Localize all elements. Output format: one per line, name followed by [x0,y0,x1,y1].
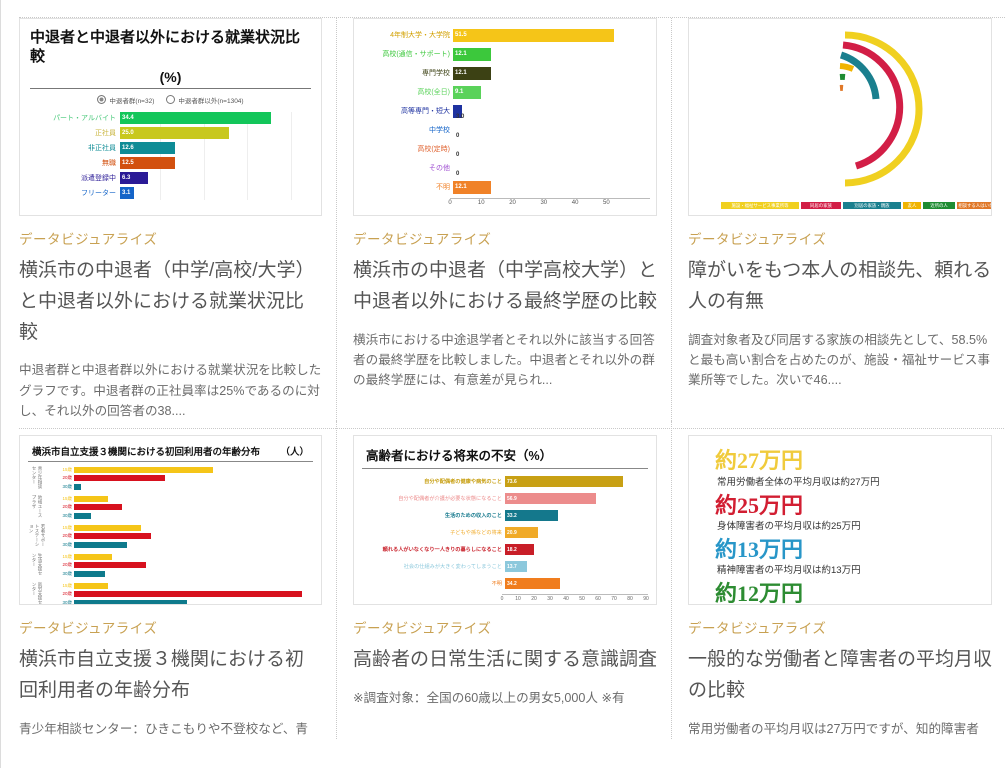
chart2-bar-label: 専門学校 [354,68,453,78]
chart4-bar-row: 30歳 [58,483,313,490]
chart2-bar-row: その他0 [354,160,650,176]
card-3-category[interactable]: データビジュアライズ [688,228,992,248]
chart1-bar-label: フリーター [28,188,120,198]
card-6[interactable]: 約27万円常用労働者全体の平均月収は約27万円約25万円身体障害者の平均月収は約… [671,421,1005,739]
chart4-title: 横浜市自立支援３機関における初回利用者の年齢分布 （人） [28,442,313,462]
chart3-legend: 施設・福祉サービス事業所等同居の家族別居の家族・親族友人近所の人相談する人はいな… [721,202,992,209]
card-1-thumbnail[interactable]: 中退者と中退者以外における就業状況比較 (%) 中退者群(n=32) 中退者群以… [19,18,322,216]
chart4-bar-row: 30歳 [58,512,313,519]
chart4-bar-row: 15歳 [58,524,313,531]
chart4-group-label: 就労支援センター [32,582,42,605]
card-6-title[interactable]: 一般的な労働者と障害者の平均月収の比較 [688,645,992,707]
chart2-bar: 0 [453,124,454,137]
kpi-value: 約27万円 [715,448,991,473]
chart4-bar [74,542,127,548]
chart4-series-label: 20歳 [58,562,74,568]
chart5-tick: 30 [547,596,553,602]
chart5-bar-value: 33.2 [507,513,517,519]
card-5-title[interactable]: 高齢者の日常生活に関する意識調査 [353,645,657,676]
radio-unselected-icon [166,95,175,104]
chart2-tick: 30 [540,200,547,206]
chart4-series-label: 30歳 [58,484,74,490]
chart2-bar-label: 不明 [354,182,453,192]
chart2-bar: 12.1 [453,48,491,61]
chart4-series-label: 30歳 [58,513,74,519]
chart5-bar-value: 18.2 [507,547,517,553]
chart4-group: 地域ユースプラザ15歳20歳30歳 [58,495,313,519]
results-grid-page: 中退者と中退者以外における就業状況比較 (%) 中退者群(n=32) 中退者群以… [0,0,1005,768]
chart2-bar-row: 高校(通信・サポート)12.1 [354,46,650,62]
chart1-rule [30,88,311,89]
kpi-description: 精神障害者の平均月収は約13万円 [717,562,991,576]
card-5-thumbnail[interactable]: 高齢者における将来の不安（%） 自分や配偶者の健康や病気のこと73.6自分や配偶… [353,435,657,605]
chart4-series-label: 20歳 [58,533,74,539]
card-2-description: 横浜市における中途退学者とそれ以外に該当する回答者の最終学歴を比較しました。中退… [353,330,657,391]
chart2-bar-value: 9.1 [455,89,463,95]
chart4-bar [74,583,108,589]
chart2-tick: 20 [509,200,516,206]
card-2-category[interactable]: データビジュアライズ [353,228,657,248]
chart1-bar-row: 派遣登録中6.3 [28,172,313,185]
chart4-bar-row: 20歳 [58,504,313,511]
chart4-series-label: 20歳 [58,591,74,597]
chart5-tick: 10 [515,596,521,602]
chart1-legend: 中退者群(n=32) 中退者群以外(n=1304) [28,95,313,105]
chart5-tick: 80 [627,596,633,602]
chart4-group-label: 地域ユースプラザ [32,495,42,519]
chart1-bar-value: 25.0 [122,130,134,136]
radio-selected-icon [97,95,106,104]
card-2-title[interactable]: 横浜市の中退者（中学高校大学）と中退者以外における最終学歴の比較 [353,256,657,318]
chart2-bar-label: 高校(全日) [354,87,453,97]
chart1-bar-value: 12.5 [122,160,134,166]
chart4-bar [74,475,165,481]
chart5-bar-row: 生活のための収入のこと33.2 [362,509,648,522]
chart2-x-axis: 01020304050 [450,198,650,209]
card-1-category[interactable]: データビジュアライズ [19,228,322,248]
chart2-bar-row: 高校(全日)9.1 [354,84,650,100]
card-5-description: ※調査対象：全国の60歳以上の男女5,000人 ※有 [353,688,657,708]
chart4-series-label: 20歳 [58,504,74,510]
card-5-category[interactable]: データビジュアライズ [353,617,657,637]
chart5-tick: 90 [643,596,649,602]
chart4-series-label: 15歳 [58,525,74,531]
card-4-title[interactable]: 横浜市自立支援３機関における初回利用者の年齢分布 [19,645,322,707]
chart2-bar: 3.0 [453,105,462,118]
chart5-title: 高齢者における将来の不安（%） [362,442,648,469]
chart5-bar-label: 頼れる人がいなくなり一人きりの暮らしになること [362,546,505,553]
chart4-series-label: 30歳 [58,571,74,577]
chart5-tick: 40 [563,596,569,602]
chart5-bar: 34.2 [505,578,560,589]
chart1-bar: 34.4 [120,112,271,124]
chart1-bar: 6.3 [120,172,148,184]
chart6-kpi-list: 約27万円常用労働者全体の平均月収は約27万円約25万円身体障害者の平均月収は約… [689,436,991,605]
card-4-description: 青少年相談センター：ひきこもりや不登校など、青 [19,719,322,739]
chart5-bar-row: 自分や配偶者の健康や病気のこと73.6 [362,475,648,488]
chart1-bar-value: 34.4 [122,115,134,121]
chart1-bar: 12.5 [120,157,175,169]
chart4-group-label: 若者サポートステーション [32,524,42,548]
chart2-bar-label: その他 [354,163,453,173]
kpi-value: 約12万円 [715,581,991,605]
chart4-series-label: 15歳 [58,496,74,502]
chart4-bar [74,496,108,502]
chart5-tick: 70 [611,596,617,602]
chart5-bar: 18.2 [505,544,534,555]
chart2-bar-value: 0 [456,152,459,158]
chart1-title: 中退者と中退者以外における就業状況比較 [28,25,313,67]
card-4-category[interactable]: データビジュアライズ [19,617,322,637]
chart2-bar-label: 高等専門・短大 [354,106,453,116]
chart1-unit: (%) [28,67,313,88]
chart1-bar-value: 3.1 [122,190,130,196]
chart5-tick: 20 [531,596,537,602]
card-1[interactable]: 中退者と中退者以外における就業状況比較 (%) 中退者群(n=32) 中退者群以… [1,18,336,421]
chart2-plot: 4年制大学・大学院51.5高校(通信・サポート)12.1専門学校12.1高校(全… [354,19,656,215]
chart4-bar-row: 20歳 [58,533,313,540]
chart2-bar-row: 高等専門・短大3.0 [354,103,650,119]
chart1-bar-row: 正社員25.0 [28,127,313,140]
chart4-bar-row: 15歳 [58,553,313,560]
chart1-plot: パート・アルバイト34.4正社員25.0非正社員12.6無職12.5派遣登録中6… [28,112,313,200]
chart1-legend-0: 中退者群(n=32) [109,98,154,105]
chart1-bar: 3.1 [120,187,134,199]
card-3-title[interactable]: 障がいをもつ本人の相談先、頼れる人の有無 [688,256,992,318]
card-3[interactable]: 施設・福祉サービス事業所等同居の家族別居の家族・親族友人近所の人相談する人はいな… [671,18,1005,421]
chart2-bar: 12.1 [453,67,491,80]
chart4-bar-row: 20歳 [58,562,313,569]
card-4-thumbnail[interactable]: 横浜市自立支援３機関における初回利用者の年齢分布 （人） 青少年相談センター15… [19,435,322,605]
chart5-bar: 20.9 [505,527,538,538]
chart1-bar-value: 12.6 [122,145,134,151]
card-5[interactable]: 高齢者における将来の不安（%） 自分や配偶者の健康や病気のこと73.6自分や配偶… [336,421,671,739]
chart4-series-label: 20歳 [58,475,74,481]
chart1-bar: 12.6 [120,142,175,154]
chart4-bar [74,467,213,473]
chart4-series-label: 30歳 [58,542,74,548]
chart2-bar-row: 高校(定時)0 [354,141,650,157]
chart1-bar-label: 正社員 [28,128,120,138]
chart5-tick: 50 [579,596,585,602]
chart5-bar-row: 自分や配偶者が介護が必要な状態になること56.9 [362,492,648,505]
chart4-bar-row: 20歳 [58,591,313,598]
chart4-bar-row: 30歳 [58,599,313,605]
chart2-bar-label: 中学校 [354,125,453,135]
chart1-bar-label: 非正社員 [28,143,120,153]
chart4-bar-row: 15歳 [58,466,313,473]
chart2-bar: 9.1 [453,86,481,99]
chart1-bar-row: 無職12.5 [28,157,313,170]
chart4-bar-row: 15歳 [58,495,313,502]
chart2-bar: 0 [453,143,454,156]
chart4-bar [74,484,81,490]
chart4-group: 生活支援センター15歳20歳30歳 [58,553,313,577]
chart3-legend-item: 近所の人 [923,202,955,209]
chart5-bar: 73.6 [505,476,623,487]
chart2-tick: 10 [478,200,485,206]
kpi-value: 約25万円 [715,493,991,518]
chart2-bar-label: 高校(定時) [354,144,453,154]
chart3-legend-item: 施設・福祉サービス事業所等 [721,202,799,209]
chart1-bar-label: パート・アルバイト [28,113,120,123]
chart5-bar-label: 自分や配偶者が介護が必要な状態になること [362,495,505,502]
card-6-category[interactable]: データビジュアライズ [688,617,992,637]
chart1-bar-row: パート・アルバイト34.4 [28,112,313,125]
chart4-bar [74,571,105,577]
chart5-bar-row: 子どもや孫などの将来20.9 [362,526,648,539]
chart2-bar-label: 4年制大学・大学院 [354,30,453,40]
chart4-bar-row: 30歳 [58,570,313,577]
chart5-bar-value: 34.2 [507,581,517,587]
chart5-bar-value: 73.6 [507,479,517,485]
card-1-description: 中退者群と中退者群以外における就業状況を比較したグラフです。中退者群の正社員率は… [19,360,322,421]
chart4-group: 青少年相談センター15歳20歳30歳 [58,466,313,490]
chart4-title-text: 横浜市自立支援３機関における初回利用者の年齢分布 [32,444,260,458]
chart5-bar: 56.9 [505,493,596,504]
chart5-tick: 0 [501,596,504,602]
chart2-bar-row: 中学校0 [354,122,650,138]
chart2-bar: 0 [453,162,454,175]
card-3-thumbnail[interactable]: 施設・福祉サービス事業所等同居の家族別居の家族・親族友人近所の人相談する人はいな… [688,18,992,216]
chart4-bar [74,554,112,560]
chart4-unit: （人） [280,444,309,458]
chart4-series-label: 15歳 [58,467,74,473]
kpi-value: 約13万円 [715,537,991,562]
chart2-bar-value: 0 [456,171,459,177]
chart4-bar-row: 20歳 [58,475,313,482]
card-2[interactable]: 4年制大学・大学院51.5高校(通信・サポート)12.1専門学校12.1高校(全… [336,18,671,421]
chart1-bar-label: 派遣登録中 [28,173,120,183]
chart2-bar-row: 専門学校12.1 [354,65,650,81]
chart4-series-label: 15歳 [58,583,74,589]
chart5-plot: 自分や配偶者の健康や病気のこと73.6自分や配偶者が介護が必要な状態になること5… [362,475,648,604]
chart5-bar: 33.2 [505,510,558,521]
chart5-tick: 60 [595,596,601,602]
chart3-legend-item: 友人 [903,202,921,209]
chart2-bar-value: 12.1 [455,184,467,190]
card-4[interactable]: 横浜市自立支援３機関における初回利用者の年齢分布 （人） 青少年相談センター15… [1,421,336,739]
chart3-legend-item: 同居の家族 [801,202,841,209]
chart5-bar-label: 生活のための収入のこと [362,512,505,519]
chart5-bar-label: 不明 [362,580,505,587]
chart4-bar [74,513,91,519]
chart4-bar [74,525,141,531]
chart4-bar-row: 15歳 [58,582,313,589]
chart3-legend-item: 別居の家族・親族 [843,202,901,209]
chart5-bar-label: 子どもや孫などの将来 [362,529,505,536]
chart4-bar [74,591,302,597]
card-1-title[interactable]: 横浜市の中退者（中学/高校/大学）と中退者以外における就業状況比較 [19,256,322,348]
chart4-group: 若者サポートステーション15歳20歳30歳 [58,524,313,548]
chart2-bar-value: 0 [456,133,459,139]
chart3-radial: 施設・福祉サービス事業所等同居の家族別居の家族・親族友人近所の人相談する人はいな… [689,19,991,215]
chart4-series-label: 30歳 [58,600,74,606]
chart5-bar-label: 自分や配偶者の健康や病気のこと [362,478,505,485]
chart5-bar-row: 頼れる人がいなくなり一人きりの暮らしになること18.2 [362,543,648,556]
chart2-tick: 0 [448,200,451,206]
chart1-legend-1: 中退者群以外(n=1304) [178,98,243,105]
chart3-legend-item: 相談する人はいない [957,202,992,209]
chart2-bar-label: 高校(通信・サポート) [354,49,453,59]
chart2-bar-row: 4年制大学・大学院51.5 [354,27,650,43]
chart4-bar-row: 30歳 [58,541,313,548]
chart5-bar-row: 社会の仕組みが大きく変わってしまうこと13.7 [362,560,648,573]
chart4-bar [74,533,151,539]
radial-chart-svg [689,19,991,215]
card-grid: 中退者と中退者以外における就業状況比較 (%) 中退者群(n=32) 中退者群以… [1,18,1005,739]
chart4-bar [74,562,146,568]
chart4-plot: 青少年相談センター15歳20歳30歳地域ユースプラザ15歳20歳30歳若者サポー… [28,466,313,605]
chart2-tick: 40 [572,200,579,206]
chart2-bar: 12.1 [453,181,491,194]
chart1-bar-row: フリーター3.1 [28,187,313,200]
chart1-bar-label: 無職 [28,158,120,168]
chart4-series-label: 15歳 [58,554,74,560]
kpi-description: 常用労働者全体の平均月収は約27万円 [717,474,991,488]
card-6-thumbnail[interactable]: 約27万円常用労働者全体の平均月収は約27万円約25万円身体障害者の平均月収は約… [688,435,992,605]
chart4-group-label: 生活支援センター [32,553,42,577]
chart2-tick: 50 [603,200,610,206]
chart5-x-axis: 0102030405060708090 [502,594,648,604]
chart1-bar: 25.0 [120,127,229,139]
chart4-bar [74,504,122,510]
chart5-bar: 13.7 [505,561,527,572]
kpi-description: 身体障害者の平均月収は約25万円 [717,518,991,532]
chart4-group: 就労支援センター15歳20歳30歳 [58,582,313,605]
card-2-thumbnail[interactable]: 4年制大学・大学院51.5高校(通信・サポート)12.1専門学校12.1高校(全… [353,18,657,216]
chart1-bar-value: 6.3 [122,175,130,181]
chart1-bar-row: 非正社員12.6 [28,142,313,155]
chart2-bar: 51.5 [453,29,614,42]
chart4-group-label: 青少年相談センター [32,466,42,490]
chart5-bar-value: 13.7 [507,564,517,570]
card-3-description: 調査対象者及び同居する家族の相談先として、58.5%と最も高い割合を占めたのが、… [688,330,992,391]
chart2-bar-value: 12.1 [455,70,467,76]
chart2-bar-value: 3.0 [456,114,464,120]
chart2-bar-value: 12.1 [455,51,467,57]
chart5-bar-value: 56.9 [507,496,517,502]
chart4-bar [74,600,187,606]
chart2-bar-row: 不明12.1 [354,179,650,195]
chart5-bar-value: 20.9 [507,530,517,536]
chart5-bar-label: 社会の仕組みが大きく変わってしまうこと [362,563,505,570]
chart2-bar-value: 51.5 [455,32,467,38]
chart5-bar-row: 不明34.2 [362,577,648,590]
card-6-description: 常用労働者の平均月収は27万円ですが、知的障害者 [688,719,992,739]
